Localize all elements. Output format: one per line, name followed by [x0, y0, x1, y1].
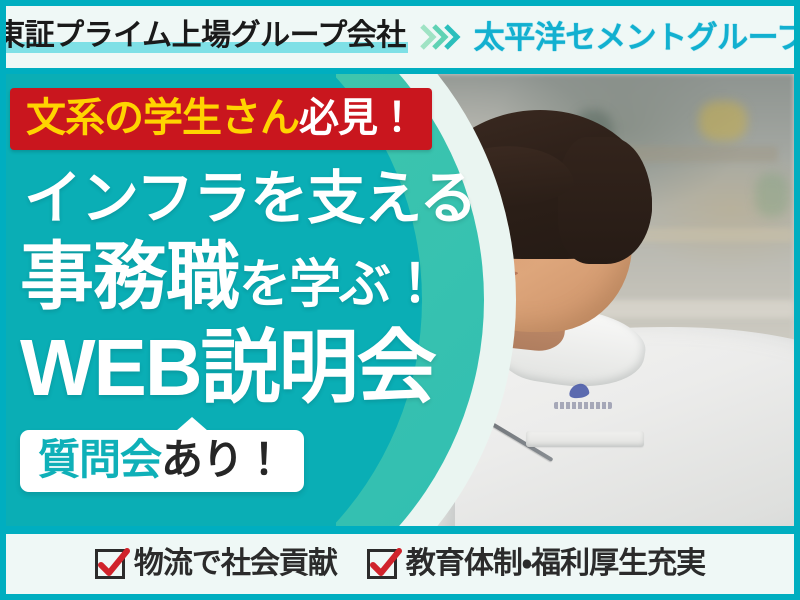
headline-line-3: WEB説明会 — [20, 328, 435, 408]
hero-copy: 文系の学生さん必見！ インフラを支える 事務職を学ぶ！ WEB説明会 質問会あり… — [6, 74, 794, 526]
ribbon-emphasis-text: 必見！ — [299, 96, 416, 140]
headline-line-2-small: を学ぶ！ — [239, 256, 439, 314]
ribbon-highlight-text: 文系の学生さん — [26, 96, 299, 140]
feature-label: 物流で社会貢献 — [134, 549, 337, 579]
header-left-text-wrapper: 東証プライム上場グループ会社 — [6, 21, 408, 54]
checkbox-checked-icon — [367, 549, 397, 579]
headline-line-1: インフラを支える — [24, 170, 477, 228]
feature-label: 教育体制・福利厚生充実 — [406, 549, 705, 579]
recruitment-banner: 東証プライム上場グループ会社 太平洋セメントグループ — [0, 0, 800, 600]
triple-chevron-right-icon — [420, 22, 462, 52]
footer-feature-bar: 物流で社会貢献 教育体制・福利厚生充実 — [6, 534, 794, 594]
qa-bubble-tail-text: あり！ — [161, 436, 284, 483]
feature-item: 物流で社会貢献 — [95, 549, 337, 579]
headline-line-2-large: 事務職 — [20, 235, 239, 318]
checkbox-checked-icon — [95, 549, 125, 579]
headline-line-2: 事務職を学ぶ！ — [20, 240, 439, 314]
qa-bubble: 質問会あり！ — [20, 430, 304, 492]
audience-ribbon: 文系の学生さん必見！ — [10, 88, 432, 150]
header-left-label: 東証プライム上場グループ会社 — [6, 19, 406, 52]
feature-item: 教育体制・福利厚生充実 — [367, 549, 705, 579]
header-brand-label: 太平洋セメントグループ — [474, 22, 794, 53]
hero-stage: 文系の学生さん必見！ インフラを支える 事務職を学ぶ！ WEB説明会 質問会あり… — [6, 74, 794, 526]
header-strip: 東証プライム上場グループ会社 太平洋セメントグループ — [6, 6, 794, 68]
qa-bubble-accent-text: 質問会 — [38, 436, 161, 483]
